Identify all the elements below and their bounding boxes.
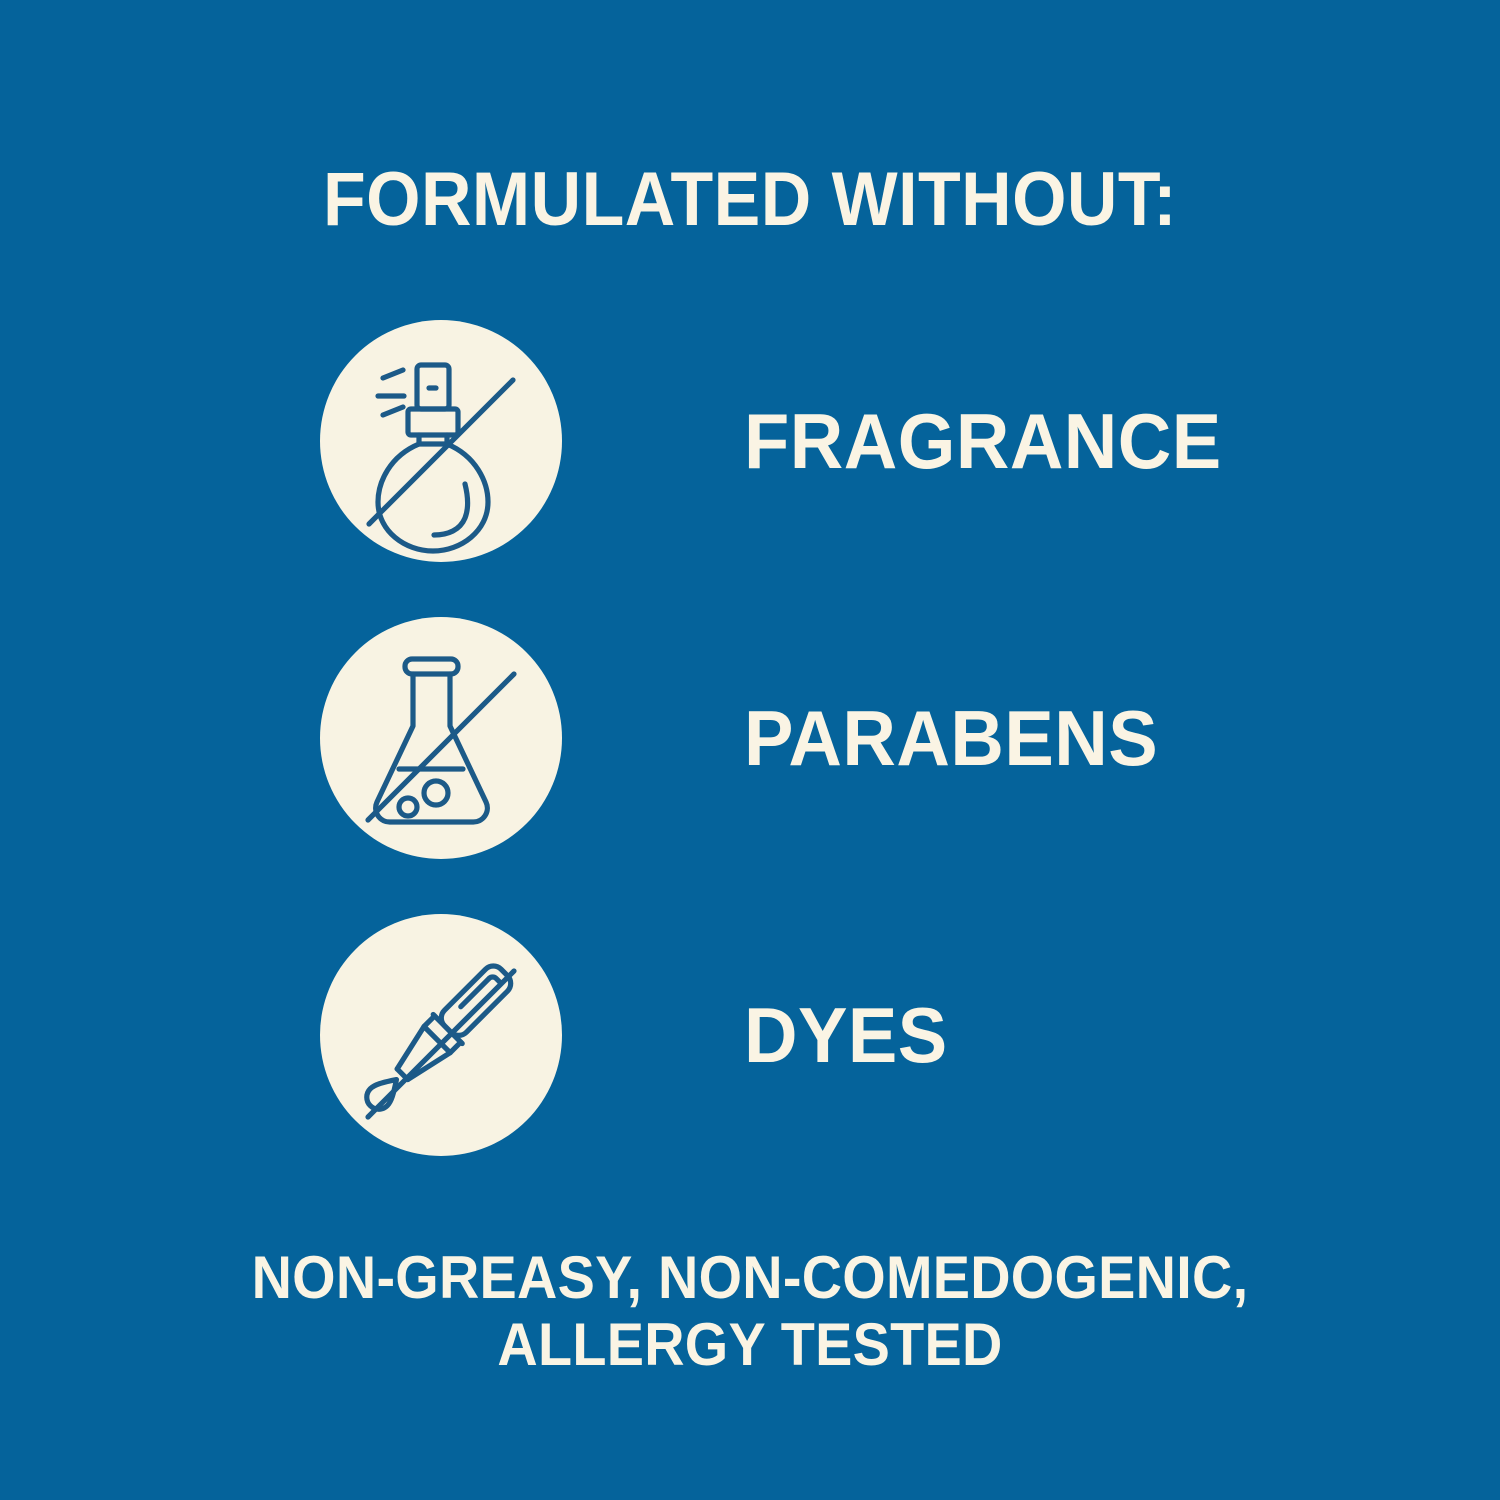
badge-dyes xyxy=(320,914,562,1156)
benefit-label-parabens: PARABENS xyxy=(744,695,1158,781)
benefit-label-fragrance: FRAGRANCE xyxy=(744,398,1222,484)
benefit-label-dyes: DYES xyxy=(744,992,948,1078)
benefits-list: FRAGRANCE xyxy=(0,320,1500,1211)
benefit-row-fragrance: FRAGRANCE xyxy=(0,320,1500,617)
page-title: FORMULATED WITHOUT: xyxy=(60,158,1440,242)
badge-fragrance xyxy=(320,320,562,562)
no-fragrance-spray-bottle-icon xyxy=(320,320,562,562)
badge-parabens xyxy=(320,617,562,859)
no-parabens-flask-icon xyxy=(320,617,562,859)
formulated-without-poster: FORMULATED WITHOUT: xyxy=(0,0,1500,1500)
benefit-row-dyes: DYES xyxy=(0,914,1500,1211)
footer-claim-line-1: NON-GREASY, NON-COMEDOGENIC, xyxy=(53,1244,1448,1311)
benefit-row-parabens: PARABENS xyxy=(0,617,1500,914)
footer-claim-line-2: ALLERGY TESTED xyxy=(53,1311,1448,1378)
footer-claim: NON-GREASY, NON-COMEDOGENIC, ALLERGY TES… xyxy=(53,1244,1448,1378)
no-dyes-dropper-icon xyxy=(320,914,562,1156)
